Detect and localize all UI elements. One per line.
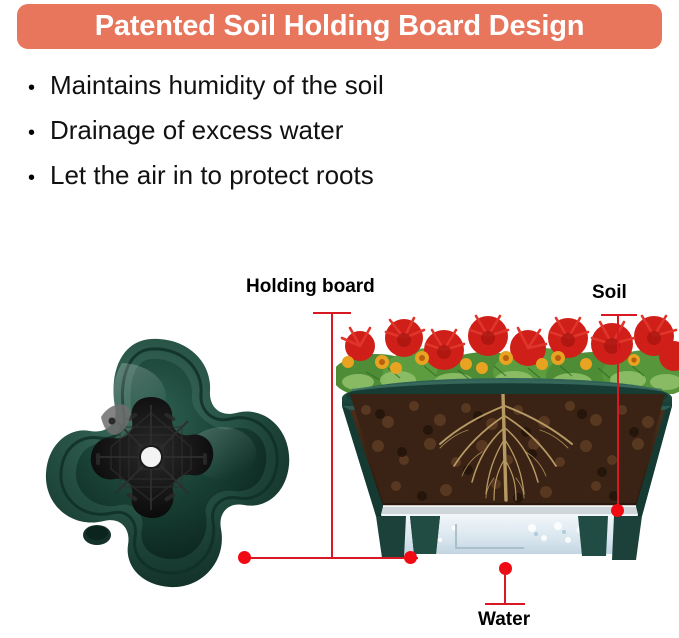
holding-board-plate xyxy=(381,506,638,514)
callout-label-soil: Soil xyxy=(592,283,627,302)
list-item: • Drainage of excess water xyxy=(28,117,588,162)
callout-label-holding-board: Holding board xyxy=(246,277,375,296)
leader-stem-water xyxy=(504,568,506,604)
clover-planter-illustration xyxy=(8,335,293,605)
bullet-icon: • xyxy=(28,168,50,188)
leader-dot-soil xyxy=(611,504,624,517)
product-diagram: Holding board Soil Water xyxy=(0,255,679,638)
leader-stem-soil xyxy=(617,314,619,512)
list-item: • Let the air in to protect roots xyxy=(28,162,588,207)
soil-layer xyxy=(336,394,679,509)
list-item-label: Drainage of excess water xyxy=(50,117,343,143)
leader-dot-holding-board-left xyxy=(238,551,251,564)
leader-stem-holding-board xyxy=(331,312,333,558)
leader-dot-holding-board-right xyxy=(404,551,417,564)
list-item-label: Maintains humidity of the soil xyxy=(50,72,384,98)
feature-list: • Maintains humidity of the soil • Drain… xyxy=(28,72,588,207)
header-banner: Patented Soil Holding Board Design xyxy=(17,4,662,49)
list-item-label: Let the air in to protect roots xyxy=(50,162,374,188)
bullet-icon: • xyxy=(28,78,50,98)
leader-crossbar-water xyxy=(485,603,525,605)
callout-label-water: Water xyxy=(478,610,530,629)
leader-crossbar-soil xyxy=(601,314,637,316)
list-item: • Maintains humidity of the soil xyxy=(28,72,588,117)
bullet-icon: • xyxy=(28,123,50,143)
leader-horizontal-holding-board xyxy=(244,557,418,559)
page-title: Patented Soil Holding Board Design xyxy=(95,12,584,41)
lobe-cup-detail xyxy=(83,525,111,545)
clover-planter-top-view xyxy=(8,335,293,605)
